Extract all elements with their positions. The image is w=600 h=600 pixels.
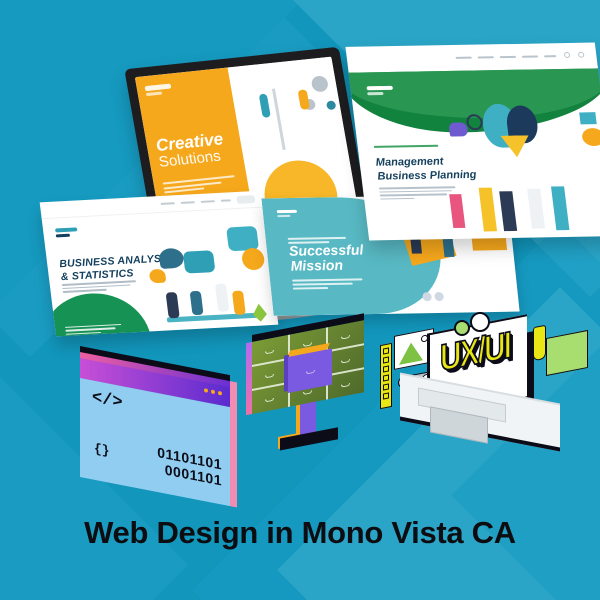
gear-icon (241, 248, 266, 271)
uxui-laptop: UX/UI (382, 318, 582, 490)
brand-logo-icon (277, 210, 298, 217)
mountain-icon (399, 340, 423, 365)
card-title-line1: Successful (288, 242, 364, 259)
illustration-dot (422, 292, 432, 301)
illustration-person (298, 89, 310, 110)
bulb-icon (149, 269, 167, 284)
poster-canvas: Creative Solutions (0, 0, 600, 600)
illustration-dot (434, 292, 444, 301)
illustration-person (499, 191, 517, 231)
card-body: BUSINESS ANALYSIS & STATISTICS (42, 208, 279, 337)
drawer-handle-icon[interactable] (341, 335, 350, 340)
pen-tool-icon (533, 325, 546, 362)
window-dot-icon[interactable] (211, 389, 215, 394)
drawer-handle-icon[interactable] (265, 350, 274, 355)
brand-logo-subtext (146, 91, 162, 96)
chart-bubble-icon (183, 250, 216, 273)
chat-bubble-icon (158, 248, 184, 269)
illustration-person (190, 291, 204, 315)
illustration-person (215, 283, 229, 311)
illustration-person (449, 194, 465, 228)
stopwatch-icon (466, 114, 484, 130)
card-management-business-planning: Management Business Planning (345, 43, 600, 241)
code-brace-icon: {} (94, 441, 110, 459)
card-illustration (434, 102, 600, 234)
brand-logo-icon (55, 227, 78, 237)
illustration-shape (579, 112, 597, 124)
card-eyebrow (374, 145, 439, 150)
drawer-handle-icon[interactable] (341, 383, 350, 388)
illustration-person (258, 94, 270, 118)
drawer-handle-icon[interactable] (341, 359, 350, 364)
drawer-handle-icon[interactable] (303, 390, 312, 395)
window-dot-icon[interactable] (218, 391, 222, 396)
gear-icon (310, 75, 329, 92)
illustration-desk (167, 313, 258, 323)
window-dot-icon[interactable] (204, 388, 208, 393)
illustration-person (166, 292, 180, 318)
illustration-ladder (272, 89, 286, 150)
illustration-person (479, 188, 497, 232)
code-browser-window: </> {} 01101101 0001101 (80, 352, 230, 477)
drawer-handle-icon[interactable] (265, 398, 274, 403)
menu-icon (578, 52, 585, 58)
card-title-line2: Mission (290, 257, 344, 274)
brand-logo-icon (145, 84, 172, 92)
gear-icon (326, 100, 337, 110)
card-business-analysis: BUSINESS ANALYSIS & STATISTICS (40, 191, 279, 337)
window-right-edge (230, 381, 237, 507)
drawer-handle-icon[interactable] (265, 374, 274, 379)
search-icon (564, 52, 571, 58)
card-title-line1: Management (375, 156, 444, 169)
drawer-handle-icon (306, 370, 315, 375)
chat-bubble-icon (448, 122, 468, 136)
tool-palette-icon (380, 343, 392, 409)
wireframe-icon (546, 330, 588, 376)
plant-icon (252, 303, 268, 322)
brand-logo-icon (366, 86, 393, 95)
page-title: Web Design in Mono Vista CA (0, 515, 600, 551)
illustration-shape (581, 128, 600, 146)
illustration-person (232, 291, 246, 315)
illustration-person (551, 186, 569, 230)
illustration-person (527, 189, 545, 229)
file-cabinet-monitor (252, 340, 382, 490)
card-title: Successful Mission (288, 243, 365, 275)
card-illustration (138, 222, 276, 337)
card-bottom-rules (292, 278, 364, 291)
